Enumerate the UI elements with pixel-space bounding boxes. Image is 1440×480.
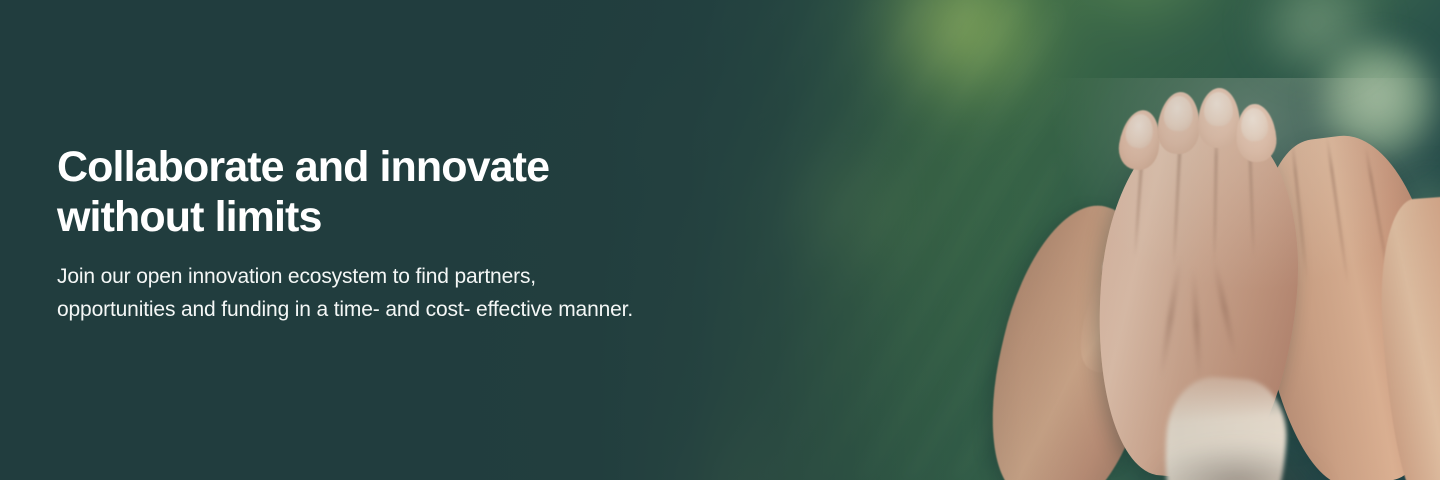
hero-headline: Collaborate and innovate without limits [57,142,857,242]
hero-copy-block: Collaborate and innovate without limits … [57,142,857,326]
hero-banner: Collaborate and innovate without limits … [0,0,1440,480]
hero-subcopy: Join our open innovation ecosystem to fi… [57,260,857,326]
